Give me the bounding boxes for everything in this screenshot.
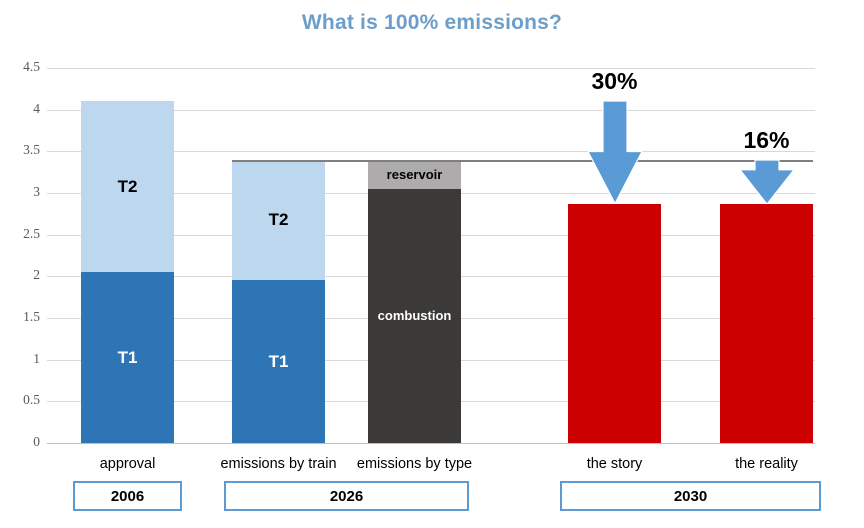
y-axis-tick-label: 1	[2, 351, 40, 367]
y-axis-tick-label: 3.5	[2, 142, 40, 158]
down-arrow-16pct	[740, 160, 794, 204]
gridline	[47, 68, 815, 69]
bar-the-story[interactable]	[568, 204, 661, 443]
y-axis-tick-label: 0	[2, 434, 40, 450]
y-axis-tick-label: 2	[2, 267, 40, 283]
category-label-emissions-by-type: emissions by type	[325, 456, 505, 472]
gridline	[47, 443, 815, 444]
y-axis-tick-label: 0.5	[2, 392, 40, 408]
y-axis-tick-label: 2.5	[2, 226, 40, 242]
bar-segment-label: T1	[118, 348, 138, 368]
bar-segment-emissions[interactable]	[568, 204, 661, 443]
down-arrow-30pct	[588, 101, 642, 204]
bar-segment-T1[interactable]: T1	[81, 272, 174, 443]
bar-segment-label: combustion	[378, 308, 452, 323]
year-box-2006: 2006	[73, 481, 182, 511]
bar-segment-label: T2	[118, 177, 138, 197]
category-label-the-reality: the reality	[677, 456, 857, 472]
bar-the-reality[interactable]	[720, 204, 813, 443]
bar-approval[interactable]: T1T2	[81, 101, 174, 443]
bar-emissions-by-type[interactable]: combustionreservoir	[368, 160, 461, 443]
chart-title: What is 100% emissions?	[0, 11, 864, 35]
bar-segment-label: T2	[269, 210, 289, 230]
y-axis-tick-label: 3	[2, 184, 40, 200]
bar-segment-reservoir[interactable]: reservoir	[368, 160, 461, 189]
year-box-2026: 2026	[224, 481, 469, 511]
bar-segment-combustion[interactable]: combustion	[368, 189, 461, 443]
y-axis-tick-label: 4	[2, 101, 40, 117]
bar-segment-label: reservoir	[387, 167, 443, 182]
bar-segment-T2[interactable]: T2	[232, 160, 325, 281]
y-axis-tick-label: 4.5	[2, 59, 40, 75]
y-axis-tick-label: 1.5	[2, 309, 40, 325]
bar-segment-T1[interactable]: T1	[232, 280, 325, 443]
reference-line	[232, 160, 813, 162]
bar-emissions-by-train[interactable]: T1T2	[232, 160, 325, 443]
bar-segment-emissions[interactable]	[720, 204, 813, 443]
reduction-label-30pct: 30%	[555, 68, 675, 95]
reduction-label-16pct: 16%	[707, 127, 827, 154]
plot-area: T1T2T1T2combustionreservoir	[47, 68, 815, 443]
bar-segment-T2[interactable]: T2	[81, 101, 174, 272]
emissions-bar-chart: What is 100% emissions? T1T2T1T2combusti…	[0, 0, 864, 528]
year-box-2030: 2030	[560, 481, 821, 511]
bar-segment-label: T1	[269, 352, 289, 372]
